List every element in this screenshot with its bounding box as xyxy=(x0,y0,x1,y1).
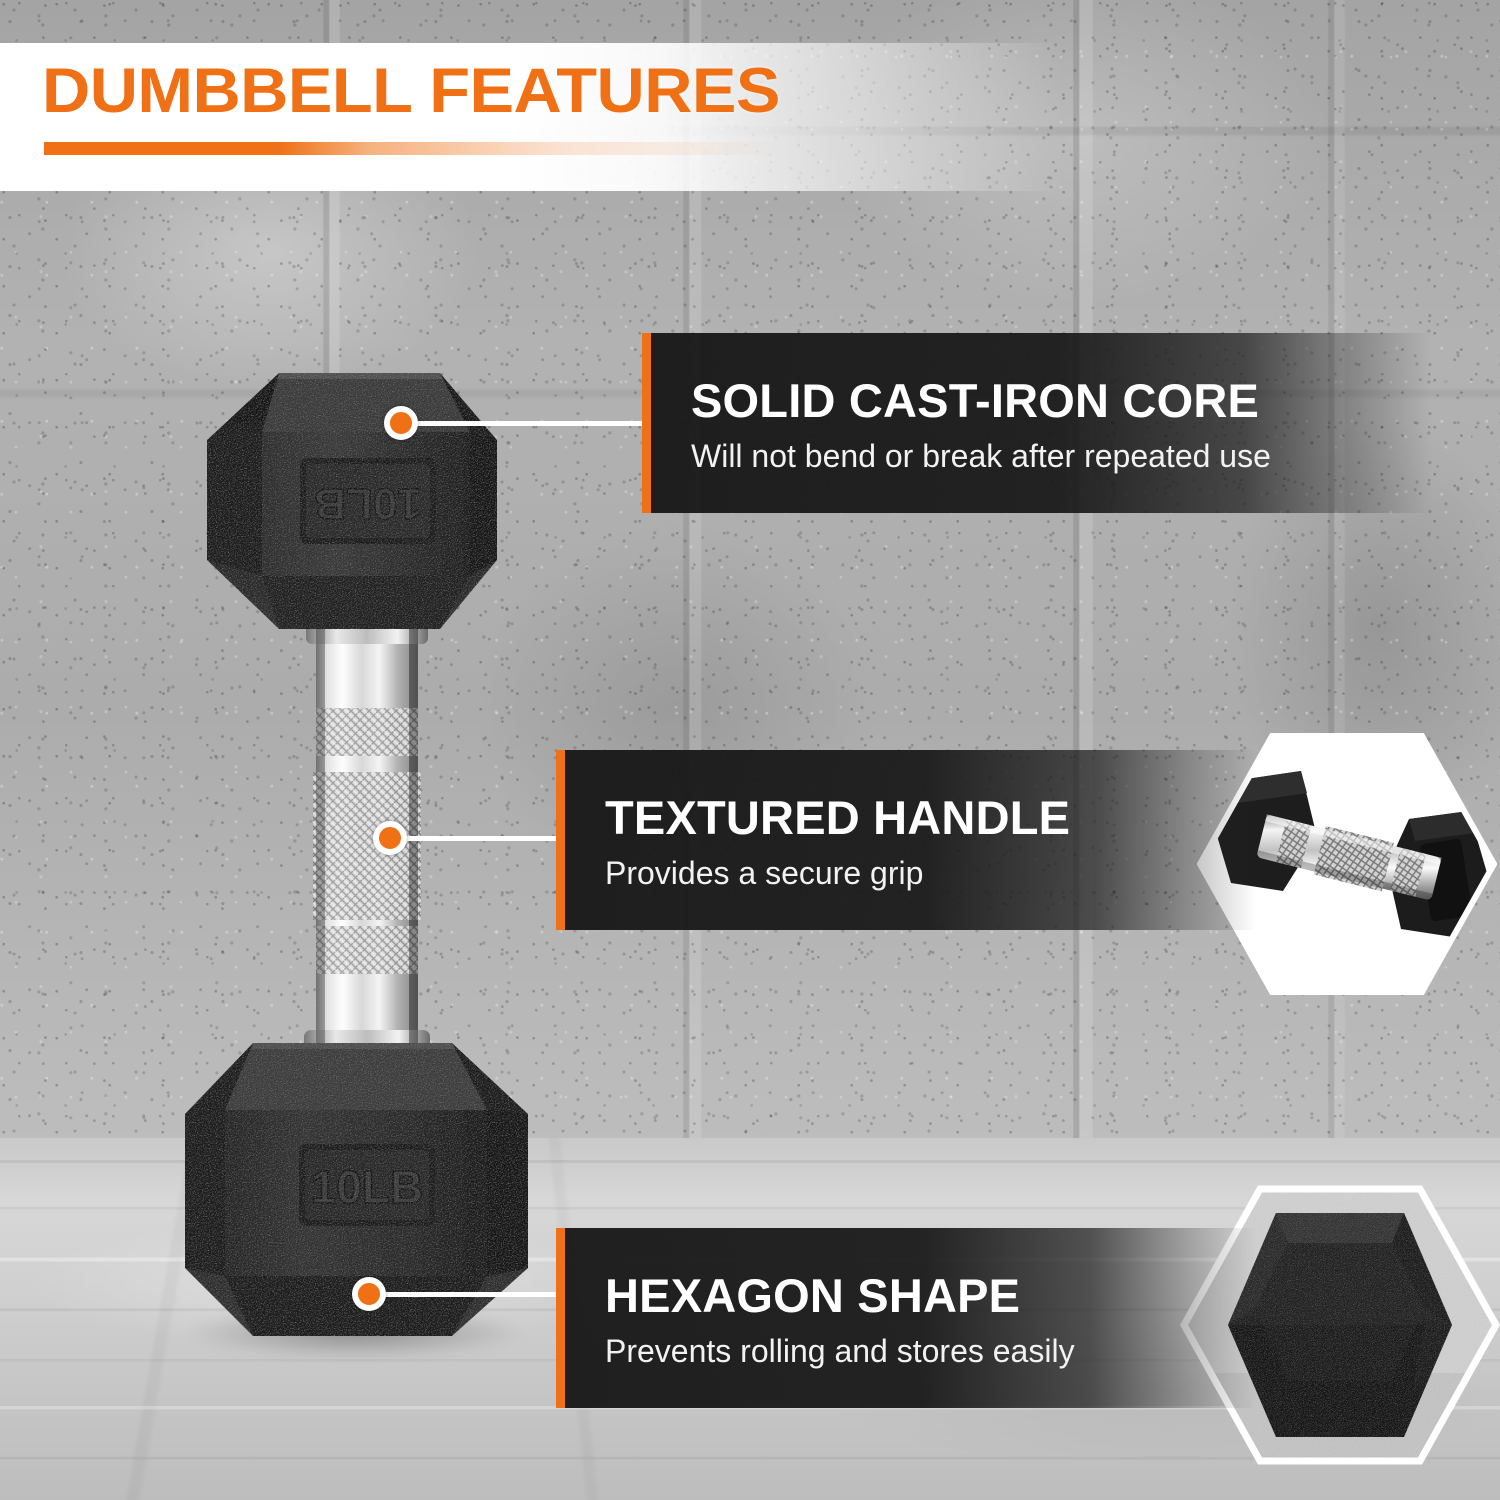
connector-dot-handle xyxy=(373,821,407,855)
feature-heading-core: SOLID CAST-IRON CORE xyxy=(691,377,1432,424)
accent-bar-hexagon xyxy=(556,1228,565,1408)
feature-subtext-handle: Provides a secure grip xyxy=(605,857,1256,891)
feature-callout-textured-handle: TEXTURED HANDLE Provides a secure grip xyxy=(556,750,1256,930)
accent-bar-handle xyxy=(556,750,565,930)
connector-line-core xyxy=(400,421,646,426)
feature-subtext-hexagon: Prevents rolling and stores easily xyxy=(605,1335,1256,1369)
callout-panel-core: SOLID CAST-IRON CORE Will not bend or br… xyxy=(651,333,1432,513)
connector-dot-hexagon xyxy=(352,1277,386,1311)
feature-heading-hexagon: HEXAGON SHAPE xyxy=(605,1272,1256,1319)
page-title: DUMBBELL FEATURES xyxy=(42,55,780,127)
dumbbell-floor-shadow xyxy=(120,1296,590,1368)
feature-callout-hexagon-shape: HEXAGON SHAPE Prevents rolling and store… xyxy=(556,1228,1256,1408)
feature-heading-handle: TEXTURED HANDLE xyxy=(605,794,1256,841)
connector-line-handle xyxy=(389,836,560,841)
feature-callout-solid-cast-iron-core: SOLID CAST-IRON CORE Will not bend or br… xyxy=(642,333,1432,513)
accent-bar-core xyxy=(642,333,651,513)
callout-panel-hexagon: HEXAGON SHAPE Prevents rolling and store… xyxy=(565,1228,1256,1408)
callout-panel-handle: TEXTURED HANDLE Provides a secure grip xyxy=(565,750,1256,930)
connector-line-hexagon xyxy=(368,1292,560,1297)
title-underline-rule xyxy=(44,142,944,155)
feature-subtext-core: Will not bend or break after repeated us… xyxy=(691,440,1432,474)
connector-dot-core xyxy=(384,406,418,440)
